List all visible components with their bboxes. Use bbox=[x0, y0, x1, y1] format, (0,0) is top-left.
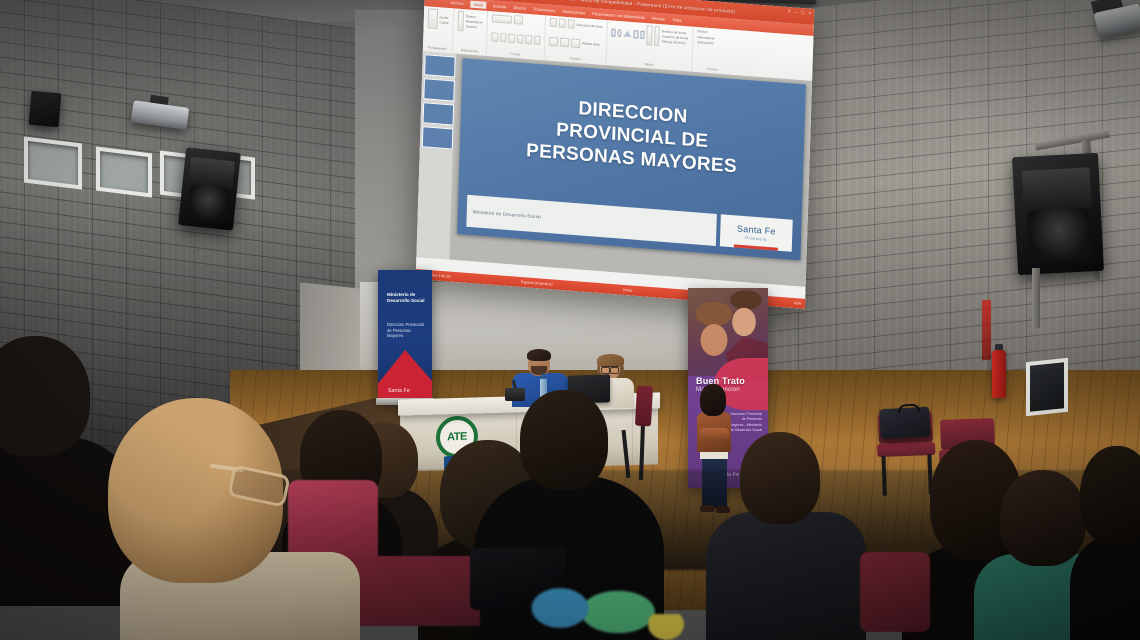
ate-logo-text: ATE bbox=[447, 431, 467, 444]
group-label: Diapositivas bbox=[457, 48, 482, 54]
tab-animaciones[interactable]: Animaciones bbox=[562, 9, 585, 16]
standing-person-arms bbox=[699, 428, 729, 439]
font-size-box[interactable] bbox=[514, 15, 523, 25]
ribbon-group-diapositivas[interactable]: Diseno Restablecer Seccion Diapositivas bbox=[453, 8, 488, 56]
shadow-button[interactable] bbox=[517, 34, 524, 43]
shape-rect-icon[interactable] bbox=[611, 29, 615, 37]
ribbon-group-parrafo[interactable]: Direccion del texto Alinear texto Parraf… bbox=[545, 15, 608, 65]
editor-body: DIRECCION PROVINCIAL DE PERSONAS MAYORES… bbox=[416, 51, 812, 287]
presenter-chair bbox=[635, 386, 653, 427]
indent-button[interactable] bbox=[567, 19, 574, 29]
align-center-button[interactable] bbox=[560, 37, 569, 47]
language-label[interactable]: Espanol (Argentina) bbox=[521, 280, 553, 286]
ministry-logo-box: Ministerio de Desarrollo Social bbox=[466, 195, 717, 246]
underline-button[interactable] bbox=[508, 33, 515, 42]
right-speaker-stand bbox=[1032, 268, 1040, 328]
speaker-grille bbox=[1021, 167, 1092, 211]
new-slide-button[interactable] bbox=[457, 11, 464, 31]
slide-thumbnail[interactable] bbox=[422, 126, 454, 149]
align-right-button[interactable] bbox=[571, 38, 580, 48]
tab-vista[interactable]: Vista bbox=[672, 17, 681, 23]
current-slide[interactable]: DIRECCION PROVINCIAL DE PERSONAS MAYORES… bbox=[457, 58, 806, 260]
foreground-chair bbox=[860, 552, 930, 632]
align-left-button[interactable] bbox=[549, 36, 558, 46]
standing-person-hair bbox=[700, 384, 726, 416]
blue-rollup-banner: Ministerio de Desarrollo Social Direccio… bbox=[378, 270, 432, 402]
cut-label[interactable]: Cortar bbox=[439, 15, 448, 20]
extinguisher-sign bbox=[982, 300, 991, 361]
foreground-chair bbox=[340, 556, 480, 626]
italic-button[interactable] bbox=[500, 32, 507, 41]
font-name-box[interactable] bbox=[492, 14, 512, 24]
speaker-woofer bbox=[1027, 208, 1092, 263]
projection-screen: Dir Prov Personas Mayores 2024 - Modo de… bbox=[416, 0, 815, 309]
banner-blue-line-2: Direccion Provincial de Personas Mayores bbox=[387, 322, 426, 339]
powerpoint-window: Dir Prov Personas Mayores 2024 - Modo de… bbox=[416, 0, 815, 309]
banner-purple-title: Buen Trato bbox=[696, 376, 745, 386]
auditorium-scene: Dir Prov Personas Mayores 2024 - Modo de… bbox=[0, 0, 1140, 640]
banner-purple-body: Direccion Provincial de Personas Mayores… bbox=[728, 412, 762, 434]
santa-fe-sub: Provincia bbox=[745, 235, 767, 242]
help-icon[interactable]: ? bbox=[788, 9, 791, 15]
text-direction-label[interactable]: Direccion del texto bbox=[576, 22, 602, 28]
ribbon-group-edicion[interactable]: Buscar Reemplazar Seleccionar Edicion bbox=[692, 27, 733, 75]
slide-thumbnail[interactable] bbox=[424, 54, 456, 77]
santa-fe-name: Santa Fe bbox=[737, 224, 776, 237]
bold-button[interactable] bbox=[491, 32, 498, 41]
shape-effects-label[interactable]: Efectos de forma bbox=[662, 39, 689, 45]
presenter-right-fringe bbox=[597, 354, 624, 366]
window-controls[interactable]: ? – □ × bbox=[788, 9, 812, 17]
maximize-icon[interactable]: □ bbox=[801, 10, 804, 16]
left-speaker-icon bbox=[178, 147, 241, 230]
arrange-button[interactable] bbox=[646, 25, 652, 45]
shape-line-icon[interactable] bbox=[640, 31, 644, 39]
foreground-scarf bbox=[530, 578, 660, 640]
slide-thumbnail[interactable] bbox=[423, 102, 455, 125]
person-head bbox=[520, 390, 608, 490]
right-wall-window bbox=[1026, 358, 1068, 416]
wall-window-2 bbox=[96, 147, 152, 198]
bottle-cap bbox=[541, 374, 546, 379]
ribbon-group-dibujo[interactable]: Relleno de forma Contorno de forma Efect… bbox=[606, 20, 693, 72]
close-icon[interactable]: × bbox=[808, 11, 811, 17]
wall-window-1 bbox=[24, 136, 82, 189]
person-head bbox=[1000, 470, 1086, 566]
bag-handle bbox=[898, 403, 920, 413]
person-shoulders bbox=[706, 512, 866, 640]
foreground-yellow-item bbox=[648, 614, 684, 640]
section-label[interactable]: Seccion bbox=[466, 24, 483, 29]
quick-styles-button[interactable] bbox=[654, 26, 660, 46]
santa-fe-logo-box: Santa Fe Provincia bbox=[720, 214, 793, 252]
tab-transiciones[interactable]: Transiciones bbox=[533, 6, 556, 13]
shape-triangle-icon[interactable] bbox=[624, 30, 632, 37]
minimize-icon[interactable]: – bbox=[794, 10, 797, 16]
slide-stage: DIRECCION PROVINCIAL DE PERSONAS MAYORES… bbox=[450, 54, 812, 287]
shape-arrow-icon[interactable] bbox=[634, 30, 638, 38]
tab-inicio[interactable]: Inicio bbox=[471, 1, 487, 9]
right-speaker-icon bbox=[1012, 153, 1104, 275]
tab-archivo[interactable]: Archivo bbox=[450, 0, 463, 6]
zoom-level[interactable]: 62% bbox=[794, 301, 801, 306]
santa-fe-accent-bar bbox=[734, 244, 778, 250]
microphone-icon bbox=[505, 388, 525, 401]
banner-blue-logo: Santa Fe bbox=[388, 388, 410, 394]
tab-insertar[interactable]: Insertar bbox=[493, 3, 507, 9]
shape-circle-icon[interactable] bbox=[618, 29, 622, 37]
slide-title[interactable]: DIRECCION PROVINCIAL DE PERSONAS MAYORES bbox=[526, 93, 739, 179]
presenter-right-glasses bbox=[601, 366, 619, 372]
notes-button[interactable]: Notas bbox=[623, 288, 632, 293]
presenter-left-hair bbox=[527, 349, 551, 361]
paste-button[interactable] bbox=[428, 8, 438, 29]
group-label: Portapapeles bbox=[427, 45, 448, 51]
ribbon-group-fuente[interactable]: Fuente bbox=[487, 11, 546, 60]
slide-footer: Ministerio de Desarrollo Social Santa Fe… bbox=[466, 195, 792, 252]
align-text-label[interactable]: Alinear texto bbox=[582, 41, 600, 46]
banner-blue-line-1: Ministerio de Desarrollo Social bbox=[387, 292, 426, 304]
copy-label[interactable]: Copiar bbox=[439, 20, 448, 25]
bullets-button[interactable] bbox=[550, 18, 557, 28]
fire-extinguisher-icon bbox=[992, 350, 1006, 398]
select-label[interactable]: Seleccionar bbox=[697, 40, 729, 46]
speaker-woofer bbox=[187, 184, 230, 222]
banner-blue-accent-shape bbox=[378, 350, 432, 402]
person-head bbox=[740, 432, 820, 524]
change-case-button[interactable] bbox=[534, 35, 541, 44]
ministry-label: Ministerio de Desarrollo Social bbox=[473, 209, 541, 219]
numbering-button[interactable] bbox=[559, 18, 566, 28]
tab-revisar[interactable]: Revisar bbox=[652, 16, 666, 22]
small-speaker-icon bbox=[29, 91, 62, 127]
slide-thumbnail[interactable] bbox=[423, 78, 455, 101]
tab-diseno[interactable]: Diseno bbox=[513, 5, 526, 11]
char-spacing-button[interactable] bbox=[525, 34, 532, 43]
ribbon-group-portapapeles[interactable]: Cortar Copiar Portapapeles bbox=[423, 6, 454, 53]
person-head bbox=[1080, 446, 1140, 546]
